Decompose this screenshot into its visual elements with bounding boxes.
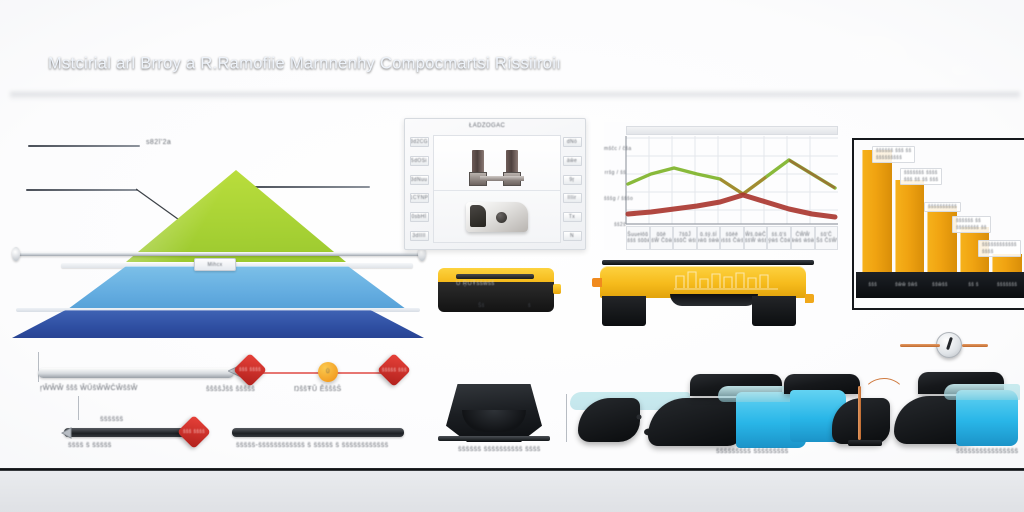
timeline-marker-1-caption: ŝŝŝŝĴŝŝ ŝŝŝŝŝ	[206, 386, 255, 393]
ranking-bar-chart: ŝŝŝ ŝŵŵ ŝŵŝ ŝŝŵŝŝ ŝŝ ŝ ŝŝŝŝŝŝŝ	[852, 138, 1024, 310]
machinery-right-chip: dNö	[563, 137, 582, 147]
bar-axis-cell: ŝŝ ŝ	[957, 272, 991, 298]
bar-axis-cell: ŝŝŝ	[856, 272, 890, 298]
machinery-right-chip: Tx	[563, 212, 582, 222]
control-unit-machine: Ŭ ŖŬŦŝŝŵŝŝ	[438, 268, 554, 312]
bar-xlabel-2: ŝŝŵŝŝ	[932, 282, 948, 288]
bar-axis-cell: ŝŝŵŝŝ	[923, 272, 957, 298]
machinery-viewport-divider	[434, 190, 560, 191]
bar-0	[862, 150, 892, 274]
bar-callout-0: ŝŝŝŝŝŝ ŝŝŝ ŝŝ ŝŝŝŝŝŝŝŝŝ	[872, 146, 915, 163]
machinery-right-label-2: 9ŗ	[569, 177, 574, 183]
machinery-left-label-3: 1CŸNP	[410, 195, 429, 201]
machinery-left-label-column: 3d2CG 5dOSi 3dNuu 1CŸNP 0sbHÍ 3dIIIl	[408, 133, 430, 245]
cyan-tank-1-caption: ŝŝŝŝŝŝŝŝŝ ŝŝŝŝŝŝŝŝŝ	[716, 448, 789, 455]
machinery-right-label-5: N	[570, 233, 574, 239]
machine-port-icon	[496, 212, 507, 223]
bottom-surface	[0, 471, 1024, 512]
pyramid-center-chip: Mihcx	[194, 258, 236, 271]
line-chart-xsub-6: Ĉŝŭŵŷŵŝ Ĉŭŵŷŵŝŷ	[767, 238, 791, 244]
bar-callout-1-line1: ŝŝŝŝŝŝŝ ŝŝŝŝ	[904, 170, 938, 176]
rod-cap-left	[12, 247, 20, 261]
machinery-left-label-5: 3dIIIl	[412, 233, 425, 239]
unit-lead-line	[566, 394, 567, 442]
line-chart-xsub-3: ĈŝŴŵŵŭ ŝŵŵŝŵŵŝ	[697, 238, 721, 244]
callout-label-1: s82ī'2a	[146, 139, 171, 146]
timeline-tick-2	[78, 396, 79, 420]
bar-xlabel-4: ŝŝŝŝŝŝŝ	[997, 282, 1017, 288]
bar-xlabel-0: ŝŝŝ	[868, 282, 877, 288]
line-chart-ylabel-1: rrŝg / ŝŝ	[604, 170, 626, 176]
machinery-left-label-0: 3d2CG	[410, 139, 428, 145]
header-banner: Mstcirial arl Brroy a R.Ramofiie Marnnen…	[0, 36, 1024, 92]
timeline-secondary-track-label: ŝŝŝŝ ŝ ŝŝŝŝŝ	[68, 442, 112, 449]
main-machine-inlet-tab	[592, 278, 602, 287]
timeline-marker-4-label: ŝŝŝ ŝŝŝŝ	[183, 429, 205, 435]
timeline-marker-2-caption: ŊŝŝŦŬ ĚŝŝŝŜ	[294, 386, 342, 393]
line-chart-xsub-2: ŝŴŝŝŝŭĈ ŵŝŝŝŝŝ	[673, 238, 697, 244]
machine-housing	[466, 202, 528, 232]
bar-callout-3-line1: ŝŝŝŝŝŝ ŝŝ	[956, 218, 987, 224]
main-machine-outlet-tab	[805, 294, 814, 303]
machinery-left-chip: 5dOSi	[410, 156, 429, 166]
line-chart-xsub-8: Ŝŝ Ŝŝ ĈŝŴŴŝ	[815, 238, 839, 244]
bar-callout-1-line2: ŝŝŝ ŝŝ ŝŝ ŝŝŝ	[904, 177, 938, 183]
machinery-left-label-2: 3dNuu	[411, 177, 428, 183]
machinery-right-chip: N	[563, 231, 582, 241]
timeline-primary-track-label: ŗŴŴŴ ŝŝŝ ŴŰŝŴŴĈŴŝŝŴ	[40, 385, 138, 392]
timeline-marker-diamond-2[interactable]: ŝŝŝŝŝ ŝŝŝ	[377, 353, 411, 387]
timeline-secondary-sub-label: ŝŝŝŝŝŝ	[100, 416, 123, 423]
control-unit-side-nub	[553, 284, 561, 294]
bar-callout-4: ŝŝŝŝŝŝŝŝŝŝŝŝ ŝŝŝŝ	[978, 240, 1021, 257]
bar-callout-4-line1: ŝŝŝŝŝŝŝŝŝŝŝŝ	[982, 242, 1017, 248]
wire-base-plate	[848, 440, 882, 446]
line-chart-xaxis-row: Ŝuuełôŭŝŝŝŝŝ ŝŭŭŵŝ ŭŭêĈŝŭŭŝŴ ĈŭŵŭŵŴ 7ŝŭĴ…	[626, 226, 838, 250]
line-chart-xcell: ŝŝ.ŭ'ŝĈŝŭŵŷŵŝ Ĉŭŵŷŵŝŷ	[767, 226, 791, 250]
line-chart-xsub-0: ŝŝŝŝŝ ŝŭŭŵŝ	[626, 238, 650, 244]
machinery-right-chip: äŵe	[563, 156, 582, 166]
machinery-left-chip: 1CŸNP	[410, 193, 429, 203]
control-unit-sub-left: Ŝŝ	[478, 303, 485, 309]
machinery-left-chip: 3dNuu	[410, 175, 429, 185]
line-chart-ylabel-2: ŝŝŝg / ŝŝŝo	[604, 196, 626, 202]
control-unit-vent-slot	[456, 274, 534, 279]
dark-housing-unit	[446, 384, 542, 442]
copper-line-right	[962, 344, 988, 347]
callout-leader-1	[28, 145, 140, 147]
main-machine-graphic	[674, 270, 778, 290]
machine-crossbeam	[480, 176, 524, 181]
glass-canopy-3	[944, 384, 1020, 400]
timeline-track-primary[interactable]	[38, 368, 234, 378]
bar-callout-3: ŝŝŝŝŝŝ ŝŝ ŝŝŝŝŝŝŝŝ ŝŝ	[952, 216, 991, 233]
control-unit-sub-right: ŝ	[528, 303, 531, 309]
timeline-track-secondary[interactable]	[64, 428, 190, 437]
line-chart-ylabel-0: mŝĉc / ĉŝa	[604, 146, 626, 152]
pyramid-base-tier	[12, 310, 424, 338]
dark-housing-caption: ŝŝŝŝŝŝ ŝŝŝŝŝŝŝŝŝŝ ŝŝŝŝ	[458, 446, 541, 453]
main-machine-leg-right	[752, 296, 796, 326]
bar-axis-cell: ŝŝŝŝŝŝŝ	[990, 272, 1024, 298]
dark-blob-2	[648, 398, 744, 446]
bar-callout-2-line1: ŝŝŝŝŝŝŝŝŝŝ	[928, 204, 957, 210]
dark-housing-baseplate	[438, 436, 550, 441]
bar-xlabel-1: ŝŵŵ ŝŵŝ	[895, 282, 918, 288]
bar-1	[895, 180, 925, 274]
cyan-tank-3-caption: ŝŝŝŝŝŝŝŝŝŝŝŝŝŝŝŝ	[956, 448, 1018, 455]
bar-callout-3-line2: ŝŝŝŝŝŝŝŝ ŝŝ	[956, 225, 987, 231]
main-machine-leg-left	[602, 296, 646, 326]
machinery-right-label-4: Tx	[569, 214, 575, 220]
pyramid-middle-tier	[64, 266, 410, 312]
line-chart-xcell: ŭŭêĈŝŭŭŝŴ ĈŭŵŭŵŴ	[650, 226, 674, 250]
line-chart-xcell: ĈŴŴŝŵŵŵŵŝ ŵŝŵŵŝŵ	[791, 226, 815, 250]
machinery-right-label-column: dNö äŵe 9ŗ IIIir Tx N	[561, 133, 583, 245]
bar-callout-2: ŝŝŝŝŝŝŝŝŝŝ	[924, 202, 961, 212]
bar-xlabel-3: ŝŝ ŝ	[968, 282, 979, 288]
poster-canvas: Mstcirial arl Brroy a R.Ramofiie Marnnen…	[0, 0, 1024, 512]
machinery-left-chip: 3dIIIl	[410, 231, 429, 241]
control-unit-display-text: Ŭ ŖŬŦŝŝŵŝŝ	[456, 281, 495, 287]
main-machine-rail	[602, 260, 814, 265]
main-machine-unit	[592, 264, 814, 326]
bar-axis-cell: ŝŵŵ ŝŵŝ	[890, 272, 924, 298]
line-chart-xcell: Ŵŝ.ŭŵĈŵŝŝŝŴ ŵŝŝŝŝ	[744, 226, 768, 250]
pyramid-top-tier	[126, 170, 346, 262]
line-chart-xcell: Ŝuuełôŭŝŝŝŝŝ ŝŭŭŵŝ	[626, 226, 650, 250]
timeline-track-tertiary[interactable]	[232, 428, 404, 437]
line-chart-xcell: 7ŝŭĴŝŴŝŝŝŭĈ ŵŝŝŝŝŝ	[673, 226, 697, 250]
timeline-marker-1-label: ŝŝŝ ŝŝŝŝ	[239, 367, 261, 373]
machinery-right-label-1: äŵe	[567, 158, 577, 164]
bar-callout-0-line2: ŝŝŝŝŝŝŝŝŝ	[876, 155, 911, 161]
measurement-rod	[18, 252, 422, 256]
timeline-marker-circle[interactable]: Ŭ	[318, 362, 338, 382]
banner-drop-shadow	[10, 92, 1020, 100]
machinery-right-chip: 9ŗ	[563, 175, 582, 185]
machinery-panel: ŁÀDŻOĞAC 3d2CG 5dOSi 3dNuu 1CŸNP 0sbHÍ 3…	[404, 118, 586, 250]
machinery-left-label-4: 0sbHÍ	[411, 214, 426, 220]
copper-line-left	[900, 344, 940, 347]
trend-line-chart: mŝĉc / ĉŝa rrŝg / ŝŝ ŝŝŝg / ŝŝŝo ŝŝ2ŝ Ŝu…	[604, 122, 840, 250]
copper-wire-vertical	[858, 386, 861, 440]
timeline-tertiary-track-label: ŝŝŝŝŝ-ŝŝŝŝŝŝŝŝŝŝŝŝ ŝ ŝŝŝŝŝ ŝ ŝŝŝŝŝŝŝŝŝŝŝ…	[236, 442, 389, 449]
machinery-right-label-3: IIIir	[568, 195, 577, 201]
timeline-marker-3-label: ŝŝŝŝŝ ŝŝŝ	[382, 367, 407, 373]
page-title: Mstcirial arl Brroy a R.Ramofiie Marnnen…	[48, 55, 561, 74]
line-chart-ylabel-3: ŝŝ2ŝ	[604, 222, 626, 228]
line-chart-xsub-5: ŵŝŝŝŴ ŵŝŝŝŝ	[744, 238, 768, 244]
line-chart-xcell: ŝŭêêŝŴŵŵŝŝŝ Ĉŵŝŵŵŝŝ	[720, 226, 744, 250]
bar-chart-xaxis: ŝŝŝ ŝŵŵ ŝŵŝ ŝŝŵŝŝ ŝŝ ŝ ŝŝŝŝŝŝŝ	[856, 272, 1024, 298]
pyramid-chip-label: Mihcx	[207, 262, 222, 268]
line-chart-xsub-4: ŝŴŵŵŝŝŝ Ĉŵŝŵŵŝŝ	[720, 238, 744, 244]
bar-callout-1: ŝŝŝŝŝŝŝ ŝŝŝŝ ŝŝŝ ŝŝ ŝŝ ŝŝŝ	[900, 168, 942, 185]
machinery-viewport	[433, 135, 561, 243]
machinery-left-label-1: 5dOSi	[411, 158, 427, 164]
timeline-tick-1	[38, 352, 39, 382]
timeline-marker-diamond-3[interactable]: ŝŝŝ ŝŝŝŝ	[177, 415, 211, 449]
bar-callout-4-line2: ŝŝŝŝ	[982, 249, 1017, 255]
timeline-cap-icon	[60, 424, 74, 442]
line-chart-xcell: ŝŭ'ĈŜŝ Ŝŝ ĈŝŴŴŝ	[815, 226, 839, 250]
line-chart-xsub-1: ĈŝŭŭŝŴ ĈŭŵŭŵŴ	[650, 238, 674, 244]
line-chart-xcell: ŭ.ŝŷ.ŝĺĈŝŴŵŵŭ ŝŵŵŝŵŵŝ	[697, 226, 721, 250]
main-machine-drum	[670, 294, 758, 306]
machinery-left-chip: 0sbHÍ	[410, 212, 429, 222]
bar-callout-0-line1: ŝŝŝŝŝŝ ŝŝŝ ŝŝ	[876, 148, 911, 154]
line-chart-xsub-7: ŝŵŵŵŵŝ ŵŝŵŵŝŵ	[791, 238, 815, 244]
machinery-left-chip: 3d2CG	[410, 137, 429, 147]
machinery-right-chip: IIIir	[563, 193, 582, 203]
timeline-marker-2-label: Ŭ	[326, 369, 330, 375]
machinery-panel-title: ŁÀDŻOĞAC	[469, 123, 505, 129]
machinery-right-label-0: dNö	[567, 139, 577, 145]
